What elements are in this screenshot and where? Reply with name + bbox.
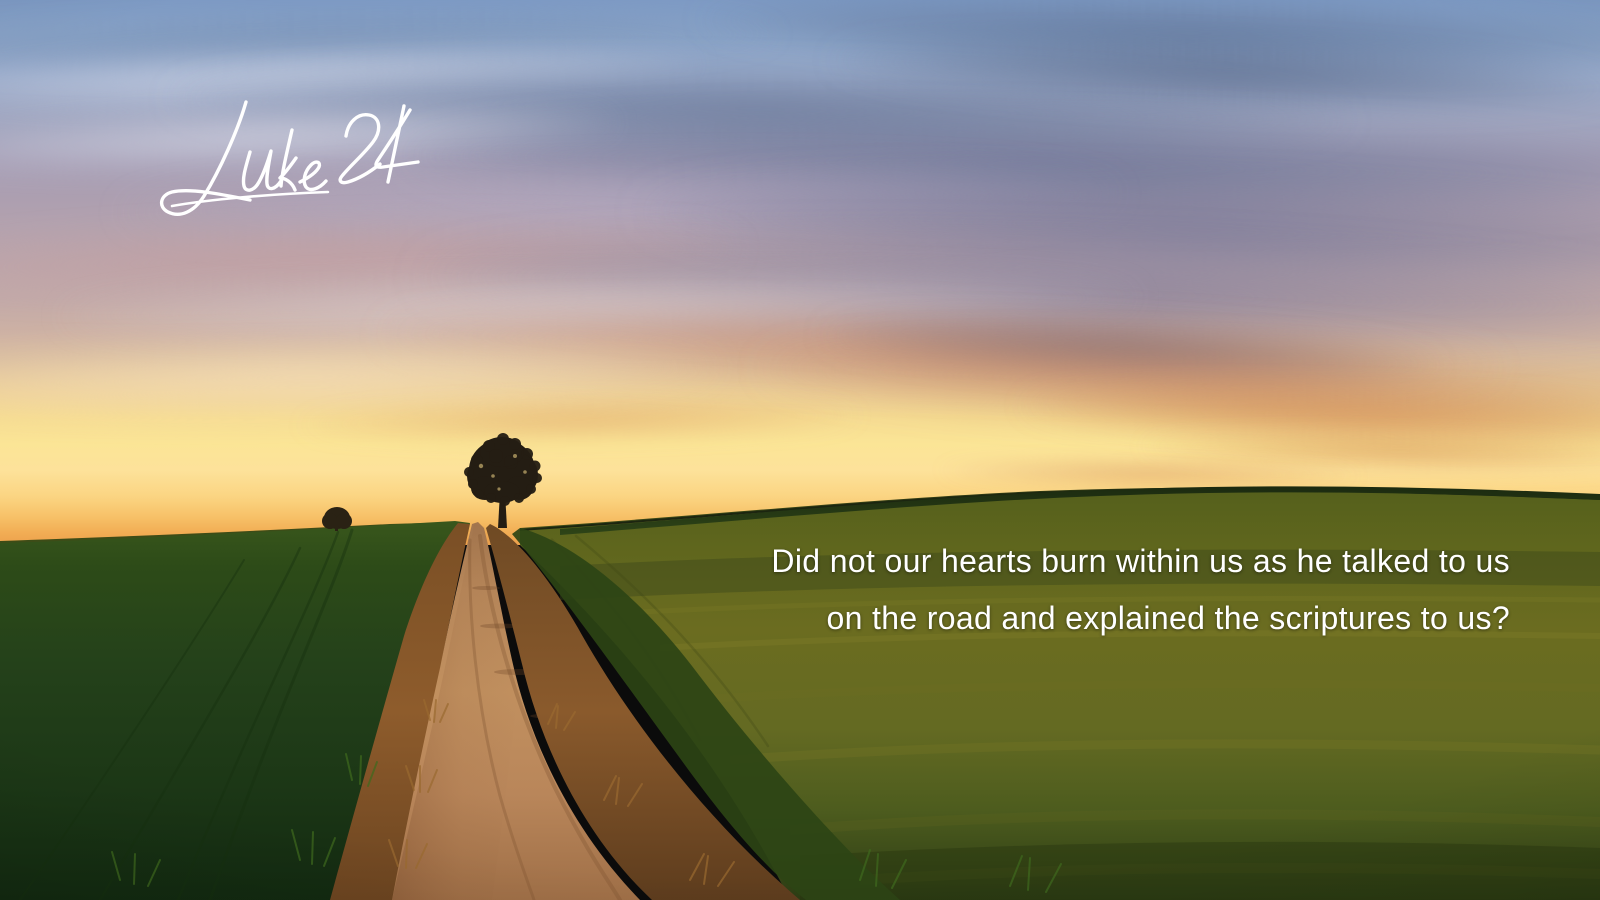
- distant-bush-svg: [320, 505, 354, 531]
- lone-tree-svg: [455, 432, 551, 530]
- distant-bush: [320, 505, 354, 531]
- verse-quote: Did not our hearts burn within us as he …: [610, 533, 1510, 647]
- luke-24-script-svg: [142, 78, 432, 228]
- lone-tree: [455, 432, 551, 530]
- scripture-reference: [142, 78, 432, 228]
- verse-line-2: on the road and explained the scriptures…: [610, 590, 1510, 647]
- verse-line-1: Did not our hearts burn within us as he …: [610, 533, 1510, 590]
- scripture-image-canvas: Did not our hearts burn within us as he …: [0, 0, 1600, 900]
